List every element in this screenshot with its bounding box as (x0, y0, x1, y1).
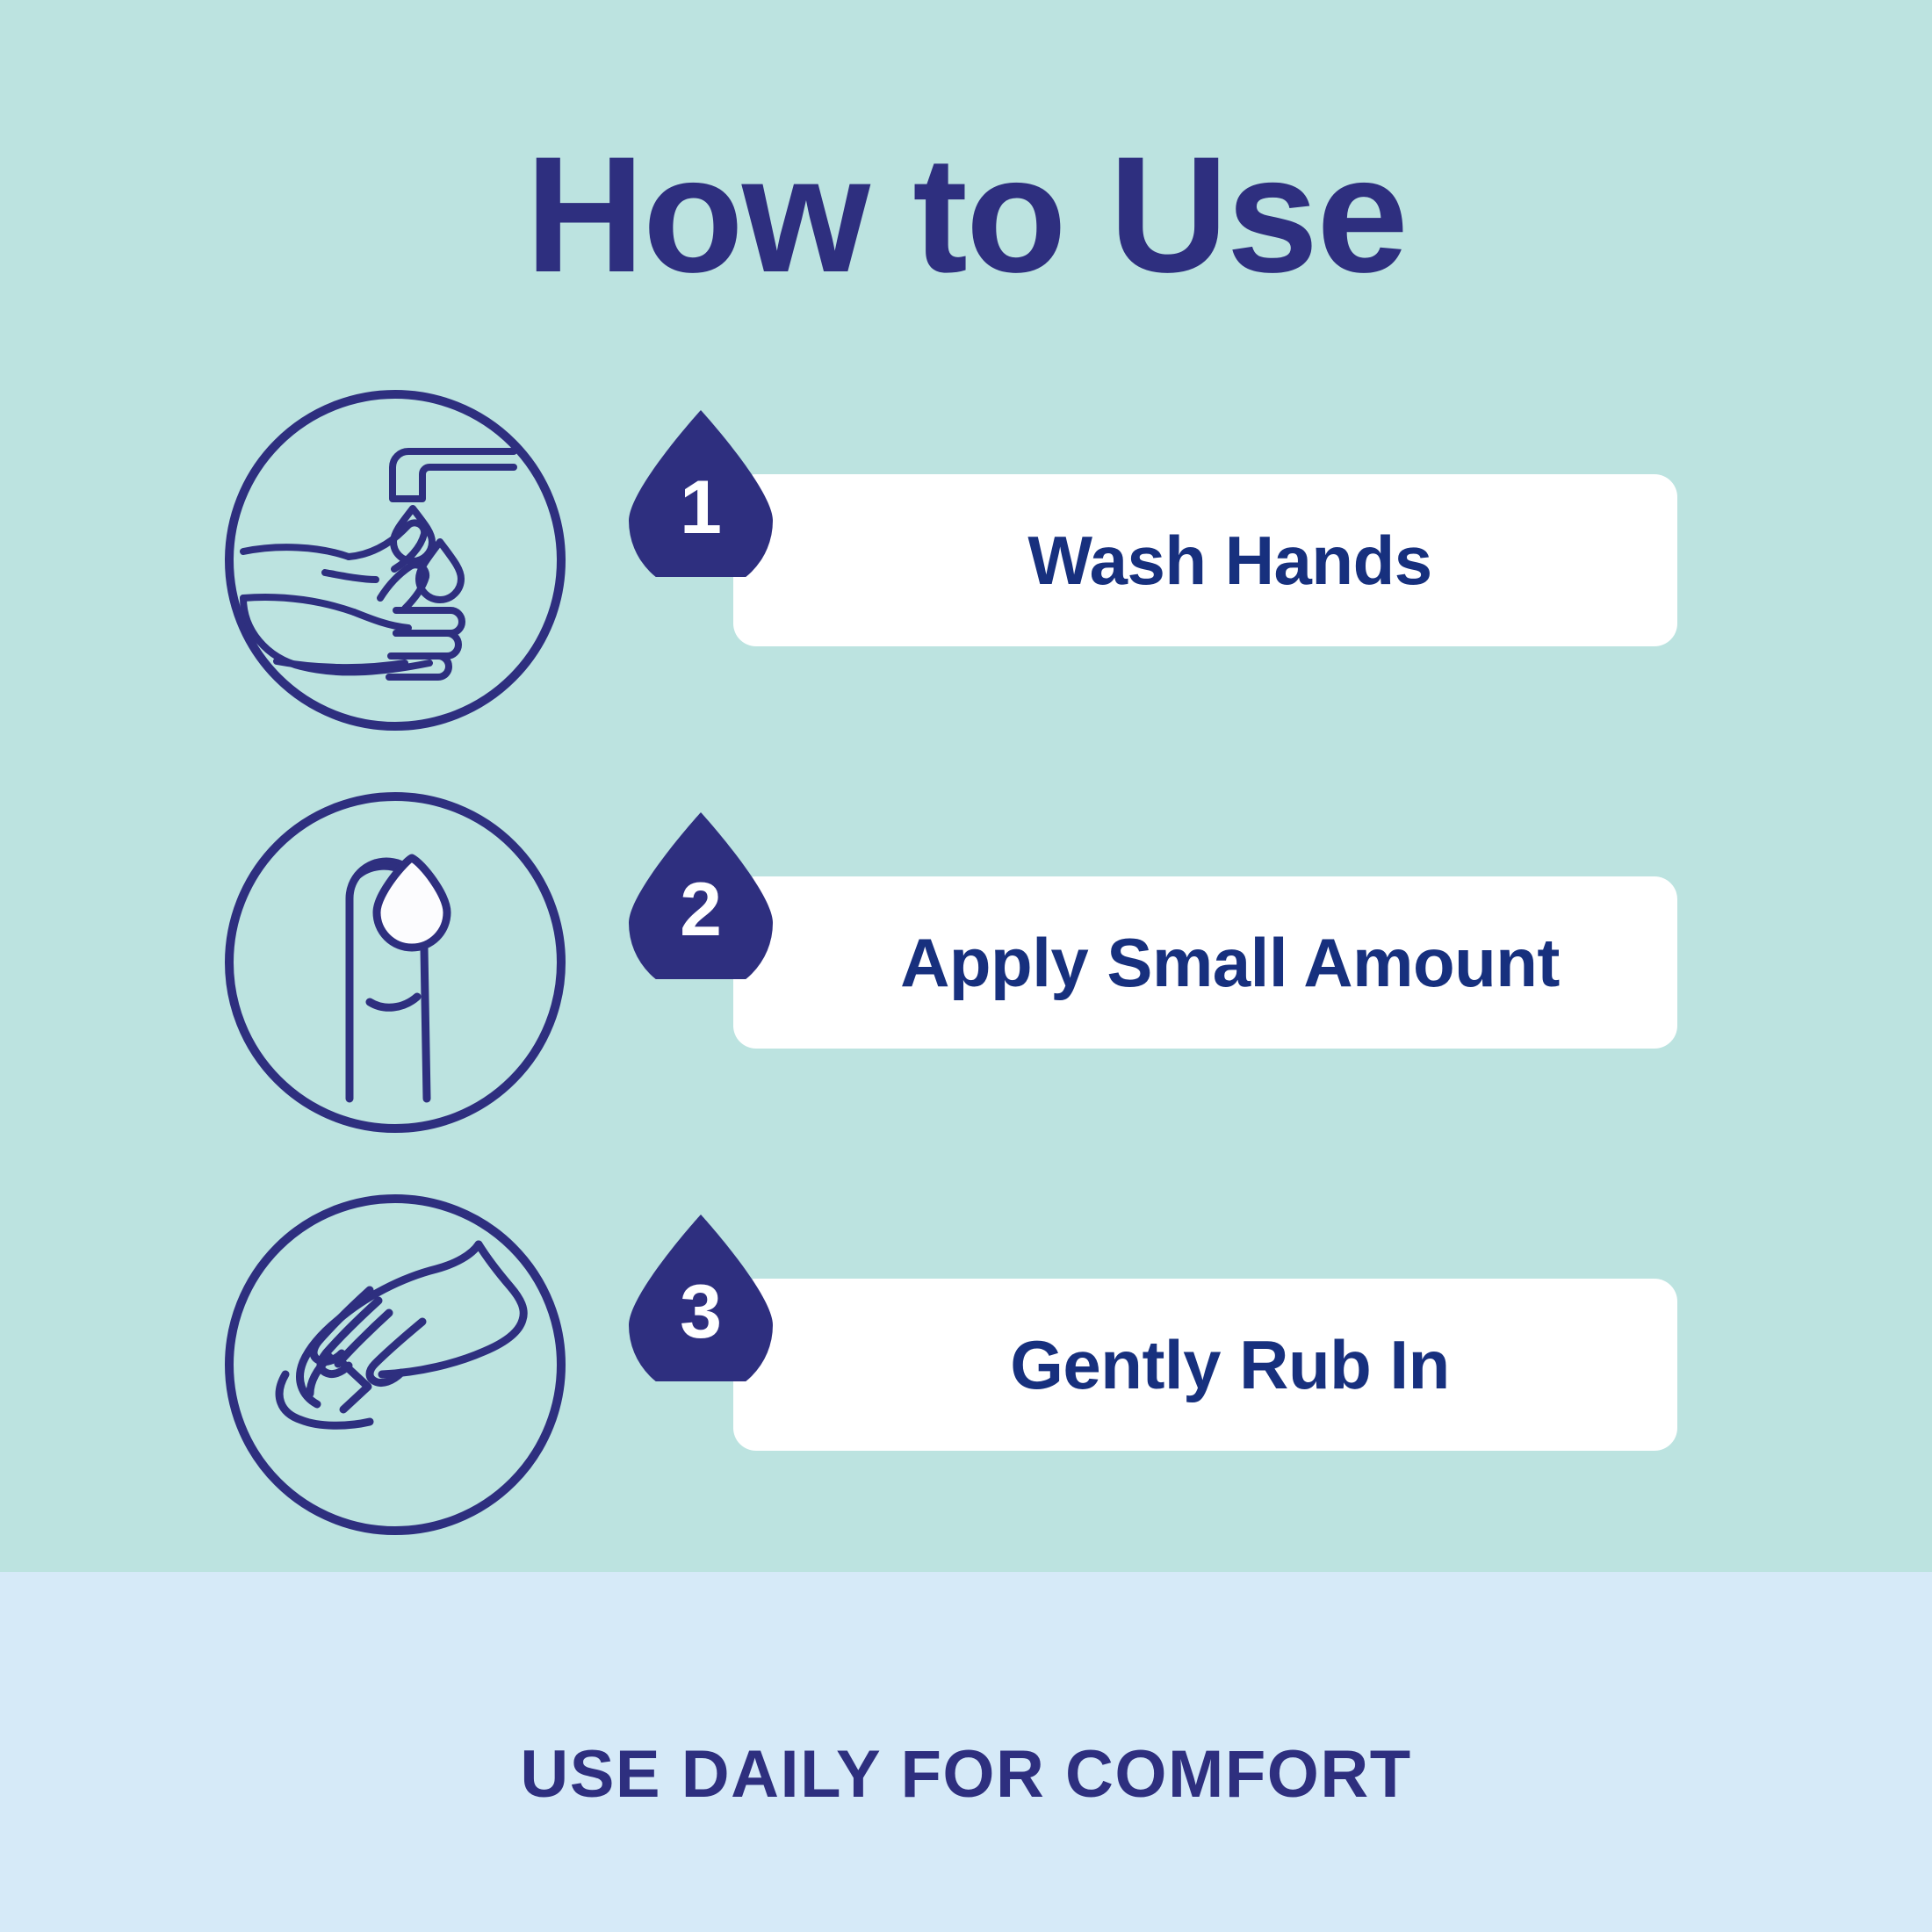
page-title: How to Use (0, 132, 1932, 297)
step-row: 1 Wash Hands (0, 389, 1932, 732)
step-number-badge: 1 (625, 408, 776, 577)
step-row: 3 Gently Rub In (0, 1193, 1932, 1536)
step-label: Wash Hands (1027, 526, 1431, 595)
step-number-badge: 3 (625, 1213, 776, 1381)
footer-banner: USE DAILY FOR COMFORT (0, 1572, 1932, 1932)
step-card[interactable]: Gently Rub In (733, 1279, 1677, 1451)
step-label: Apply Small Amount (900, 928, 1560, 997)
footer-tagline: USE DAILY FOR COMFORT (520, 1741, 1411, 1808)
step-card[interactable]: Wash Hands (733, 474, 1677, 646)
fingertip-cream-drop-icon (224, 791, 566, 1134)
hand-rubbing-arrow-icon (224, 1193, 566, 1536)
step-card[interactable]: Apply Small Amount (733, 876, 1677, 1049)
how-to-use-infographic: How to Use (0, 0, 1932, 1932)
step-row: 2 Apply Small Amount (0, 791, 1932, 1134)
step-number-badge: 2 (625, 811, 776, 979)
steps-list: 1 Wash Hands (0, 389, 1932, 1596)
step-label: Gently Rub In (1010, 1330, 1450, 1399)
hand-washing-faucet-icon (224, 389, 566, 732)
